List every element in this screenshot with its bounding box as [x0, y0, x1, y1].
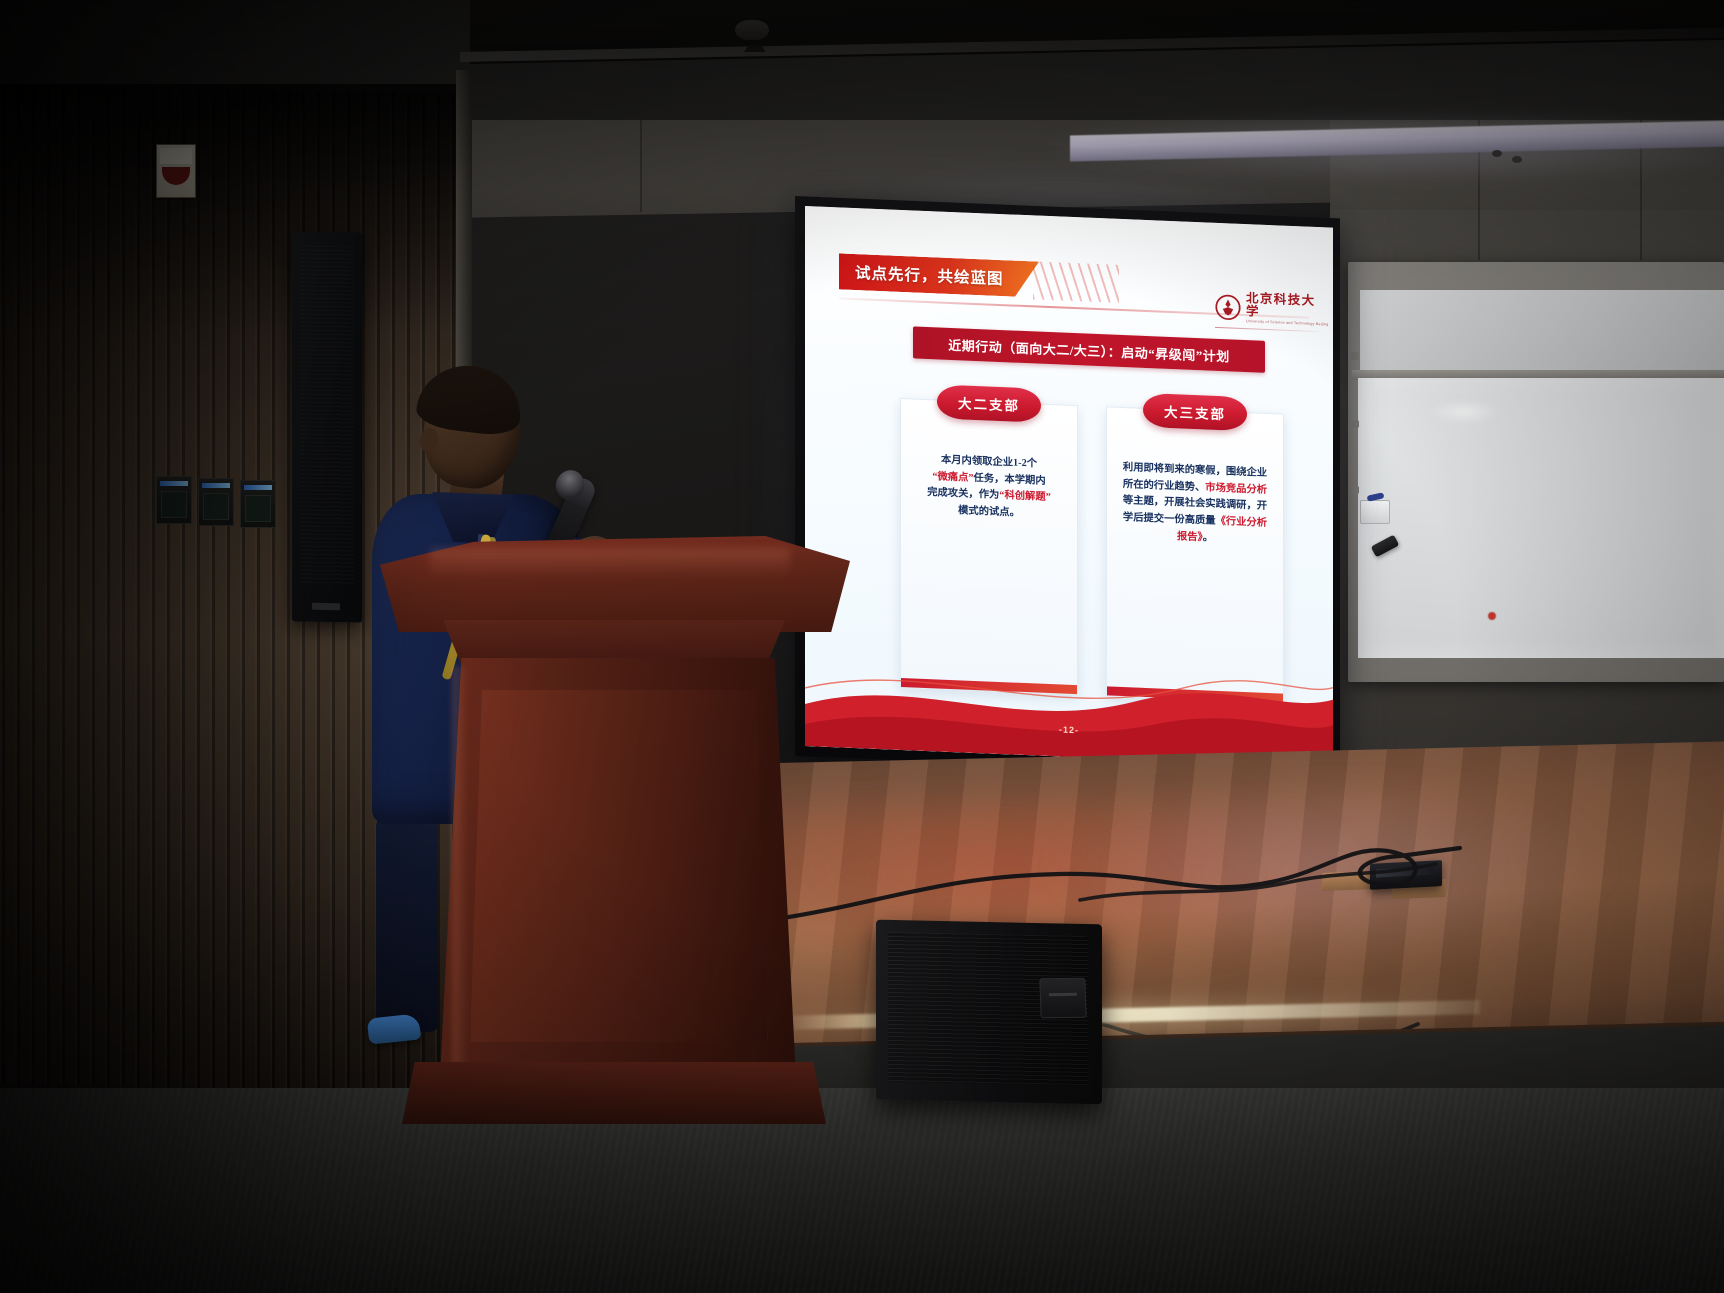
whiteboard-upper-panel	[1360, 290, 1724, 372]
whiteboard-clip	[1351, 352, 1359, 360]
slide-title: 试点先行，共绘蓝图	[855, 261, 1004, 289]
card-badge-label: 大三支部	[1164, 401, 1226, 424]
slide-subtitle: 近期行动（面向大二/大三）：启动“昇级闯”计划	[948, 334, 1230, 365]
university-name-en: University of Science and Technology Bei…	[1246, 320, 1328, 327]
slide-subtitle-banner: 近期行动（面向大二/大三）：启动“昇级闯”计划	[913, 326, 1265, 372]
wall-shadow	[0, 84, 470, 334]
presenter-shoe	[367, 1013, 421, 1044]
slide-title-banner: 试点先行，共绘蓝图	[839, 253, 1039, 297]
smoke-detector-icon	[735, 20, 769, 40]
whiteboard-clip	[1351, 420, 1359, 428]
indicator-led-icon	[244, 485, 272, 490]
plate-face	[203, 493, 229, 520]
ceiling-speaker-icon	[1512, 156, 1522, 163]
card-body: 利用即将到来的寒假，围绕企业所在的行业趋势、市场竞品分析等主题，开展社会实践调研…	[1107, 407, 1283, 566]
title-decor-stripes	[1033, 261, 1119, 303]
plate-face	[245, 495, 271, 522]
university-name-cn: 北京科技大学	[1246, 292, 1328, 320]
card-text: 本月内领取企业1-2个“微痛点”任务，本学期内完成攻关，作为“科创解题”模式的试…	[915, 452, 1063, 525]
indicator-led-icon	[160, 481, 188, 486]
podium-edge-light	[452, 666, 468, 1066]
ceiling-speaker-icon	[1492, 150, 1502, 157]
wall-control-plate[interactable]	[240, 480, 276, 528]
stage-cable	[1080, 846, 1440, 916]
led-screen[interactable]: 试点先行，共绘蓝图 北京科技大学 University of Science a…	[805, 206, 1333, 768]
slide-wave-decor: -12-	[805, 628, 1333, 768]
wall-control-plate[interactable]	[198, 478, 234, 526]
podium-base	[402, 1062, 826, 1124]
card-badge: 大二支部	[937, 384, 1041, 422]
speaker-handle-icon	[1039, 978, 1086, 1019]
ustb-emblem-icon	[1215, 294, 1241, 321]
podium-highlight	[430, 548, 790, 578]
podium-front-panel	[470, 690, 768, 1042]
carpet-texture	[0, 1088, 1724, 1293]
marker-tray	[1360, 500, 1390, 524]
indicator-led-icon	[202, 483, 230, 488]
plate-face	[161, 491, 187, 518]
red-dot-mark	[1488, 612, 1496, 620]
university-name-block: 北京科技大学 University of Science and Technol…	[1246, 292, 1328, 327]
speaker-column	[292, 231, 362, 622]
university-logo: 北京科技大学 University of Science and Technol…	[1215, 289, 1319, 329]
podium-neck	[432, 620, 796, 664]
whiteboard-clip	[1351, 486, 1359, 494]
presentation-slide: 试点先行，共绘蓝图 北京科技大学 University of Science a…	[805, 206, 1333, 768]
whiteboard-glare	[1430, 400, 1500, 424]
wall-control-plate[interactable]	[156, 476, 192, 524]
card-text: 利用即将到来的寒假，围绕企业所在的行业趋势、市场竞品分析等主题，开展社会实践调研…	[1121, 460, 1269, 549]
sign-top-plate	[160, 148, 192, 164]
emergency-sign	[156, 144, 196, 198]
presentation-scene-photo: 试点先行，共绘蓝图 北京科技大学 University of Science a…	[0, 0, 1724, 1293]
presenter-leg	[376, 818, 438, 1032]
card-badge: 大三支部	[1143, 393, 1247, 431]
card-badge-label: 大二支部	[958, 392, 1020, 415]
whiteboard-surface[interactable]	[1358, 378, 1724, 658]
sign-bowl-icon	[162, 167, 190, 185]
speaker-badge	[312, 603, 340, 610]
